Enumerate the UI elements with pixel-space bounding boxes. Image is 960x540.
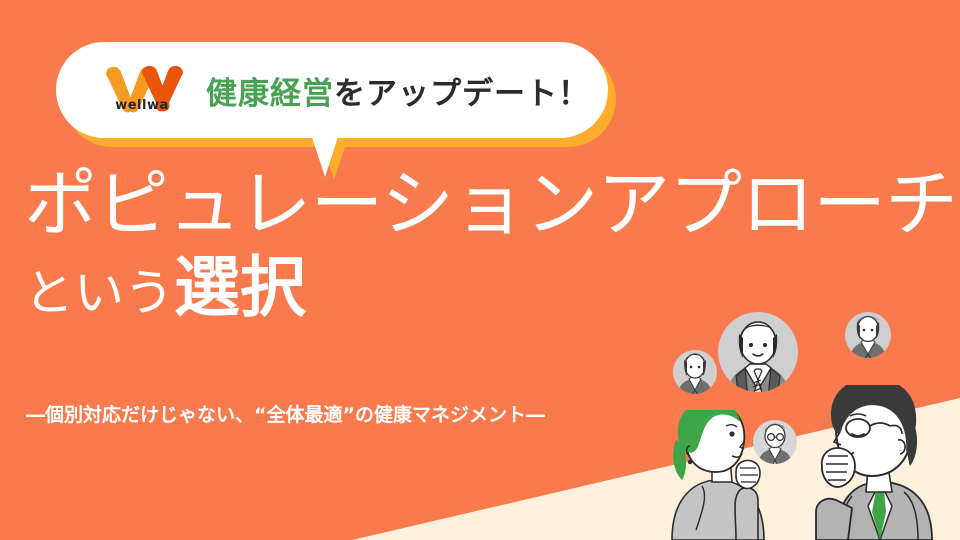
woman-green-hair-thinking (672, 400, 764, 540)
page-subtitle: ―個別対応だけじゃない、“全体最適”の健康マネジメント― (26, 400, 545, 427)
man-glasses-thinking (816, 378, 932, 540)
bubble-headline-green: 健康経営 (206, 68, 334, 113)
page-title-line2-big: 選択 (174, 255, 306, 321)
wellwa-wordmark: wellwa (96, 98, 188, 113)
page-title-line2: という選択 (24, 255, 957, 321)
avatar-small-bottom (753, 420, 797, 470)
page-title-line1: ポピュレーションアプローチ (24, 168, 957, 241)
avatar-large-center (718, 312, 798, 402)
page-title-line2-small: という (24, 268, 174, 318)
avatar-small-left (673, 350, 717, 400)
bubble-headline-dark: をアップデート！ (334, 68, 590, 113)
page-title: ポピュレーションアプローチ という選択 (24, 168, 957, 321)
bubble-headline: 健康経営をアップデート！ (206, 42, 590, 138)
people-thinking-illustration (640, 300, 960, 540)
slide-canvas: wellwa 健康経営をアップデート！ ポピュレーションアプローチ という選択 … (0, 0, 960, 540)
speech-bubble: wellwa 健康経営をアップデート！ (56, 42, 616, 172)
